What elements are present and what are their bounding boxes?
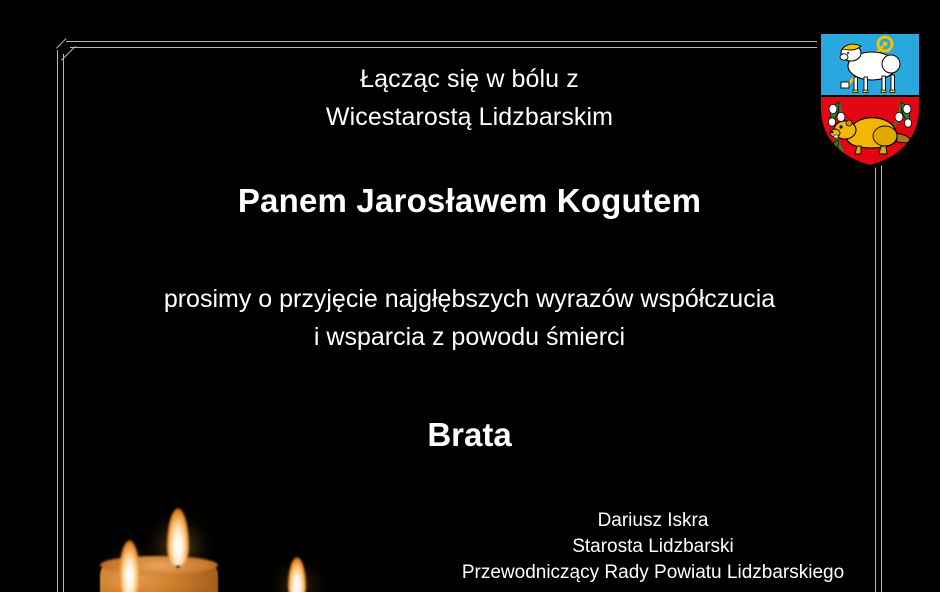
condolence-body: prosimy o przyjęcie najgłębszych wyrazów… [57, 280, 882, 356]
body-line-2: i wsparcia z powodu śmierci [57, 318, 882, 356]
signatory-role: Przewodniczący Rady Powiatu Lidzbarskieg… [428, 560, 878, 586]
coat-of-arms-icon [817, 30, 923, 169]
honoree-name: Panem Jarosławem Kogutem [57, 182, 882, 220]
intro-line-2: Wicestarostą Lidzbarskim [57, 98, 882, 136]
condolence-notice-page: { "notice": { "intro_line_1": "Łącząc si… [0, 0, 940, 592]
candle-top-main [100, 556, 218, 574]
notice-text-block: Łącząc się w bólu z Wicestarostą Lidzbar… [57, 41, 882, 454]
body-line-1: prosimy o przyjęcie najgłębszych wyrazów… [57, 280, 882, 318]
candle-flame-front [119, 540, 140, 592]
deceased-relation: Brata [57, 416, 882, 454]
intro-text: Łącząc się w bólu z Wicestarostą Lidzbar… [57, 41, 882, 136]
signatory-title: Starosta Lidzbarski [428, 534, 878, 560]
signature-block: Dariusz Iskra Starosta Lidzbarski Przewo… [428, 508, 878, 586]
intro-line-1: Łącząc się w bólu z [57, 60, 882, 98]
signatory-name: Dariusz Iskra [428, 508, 878, 534]
